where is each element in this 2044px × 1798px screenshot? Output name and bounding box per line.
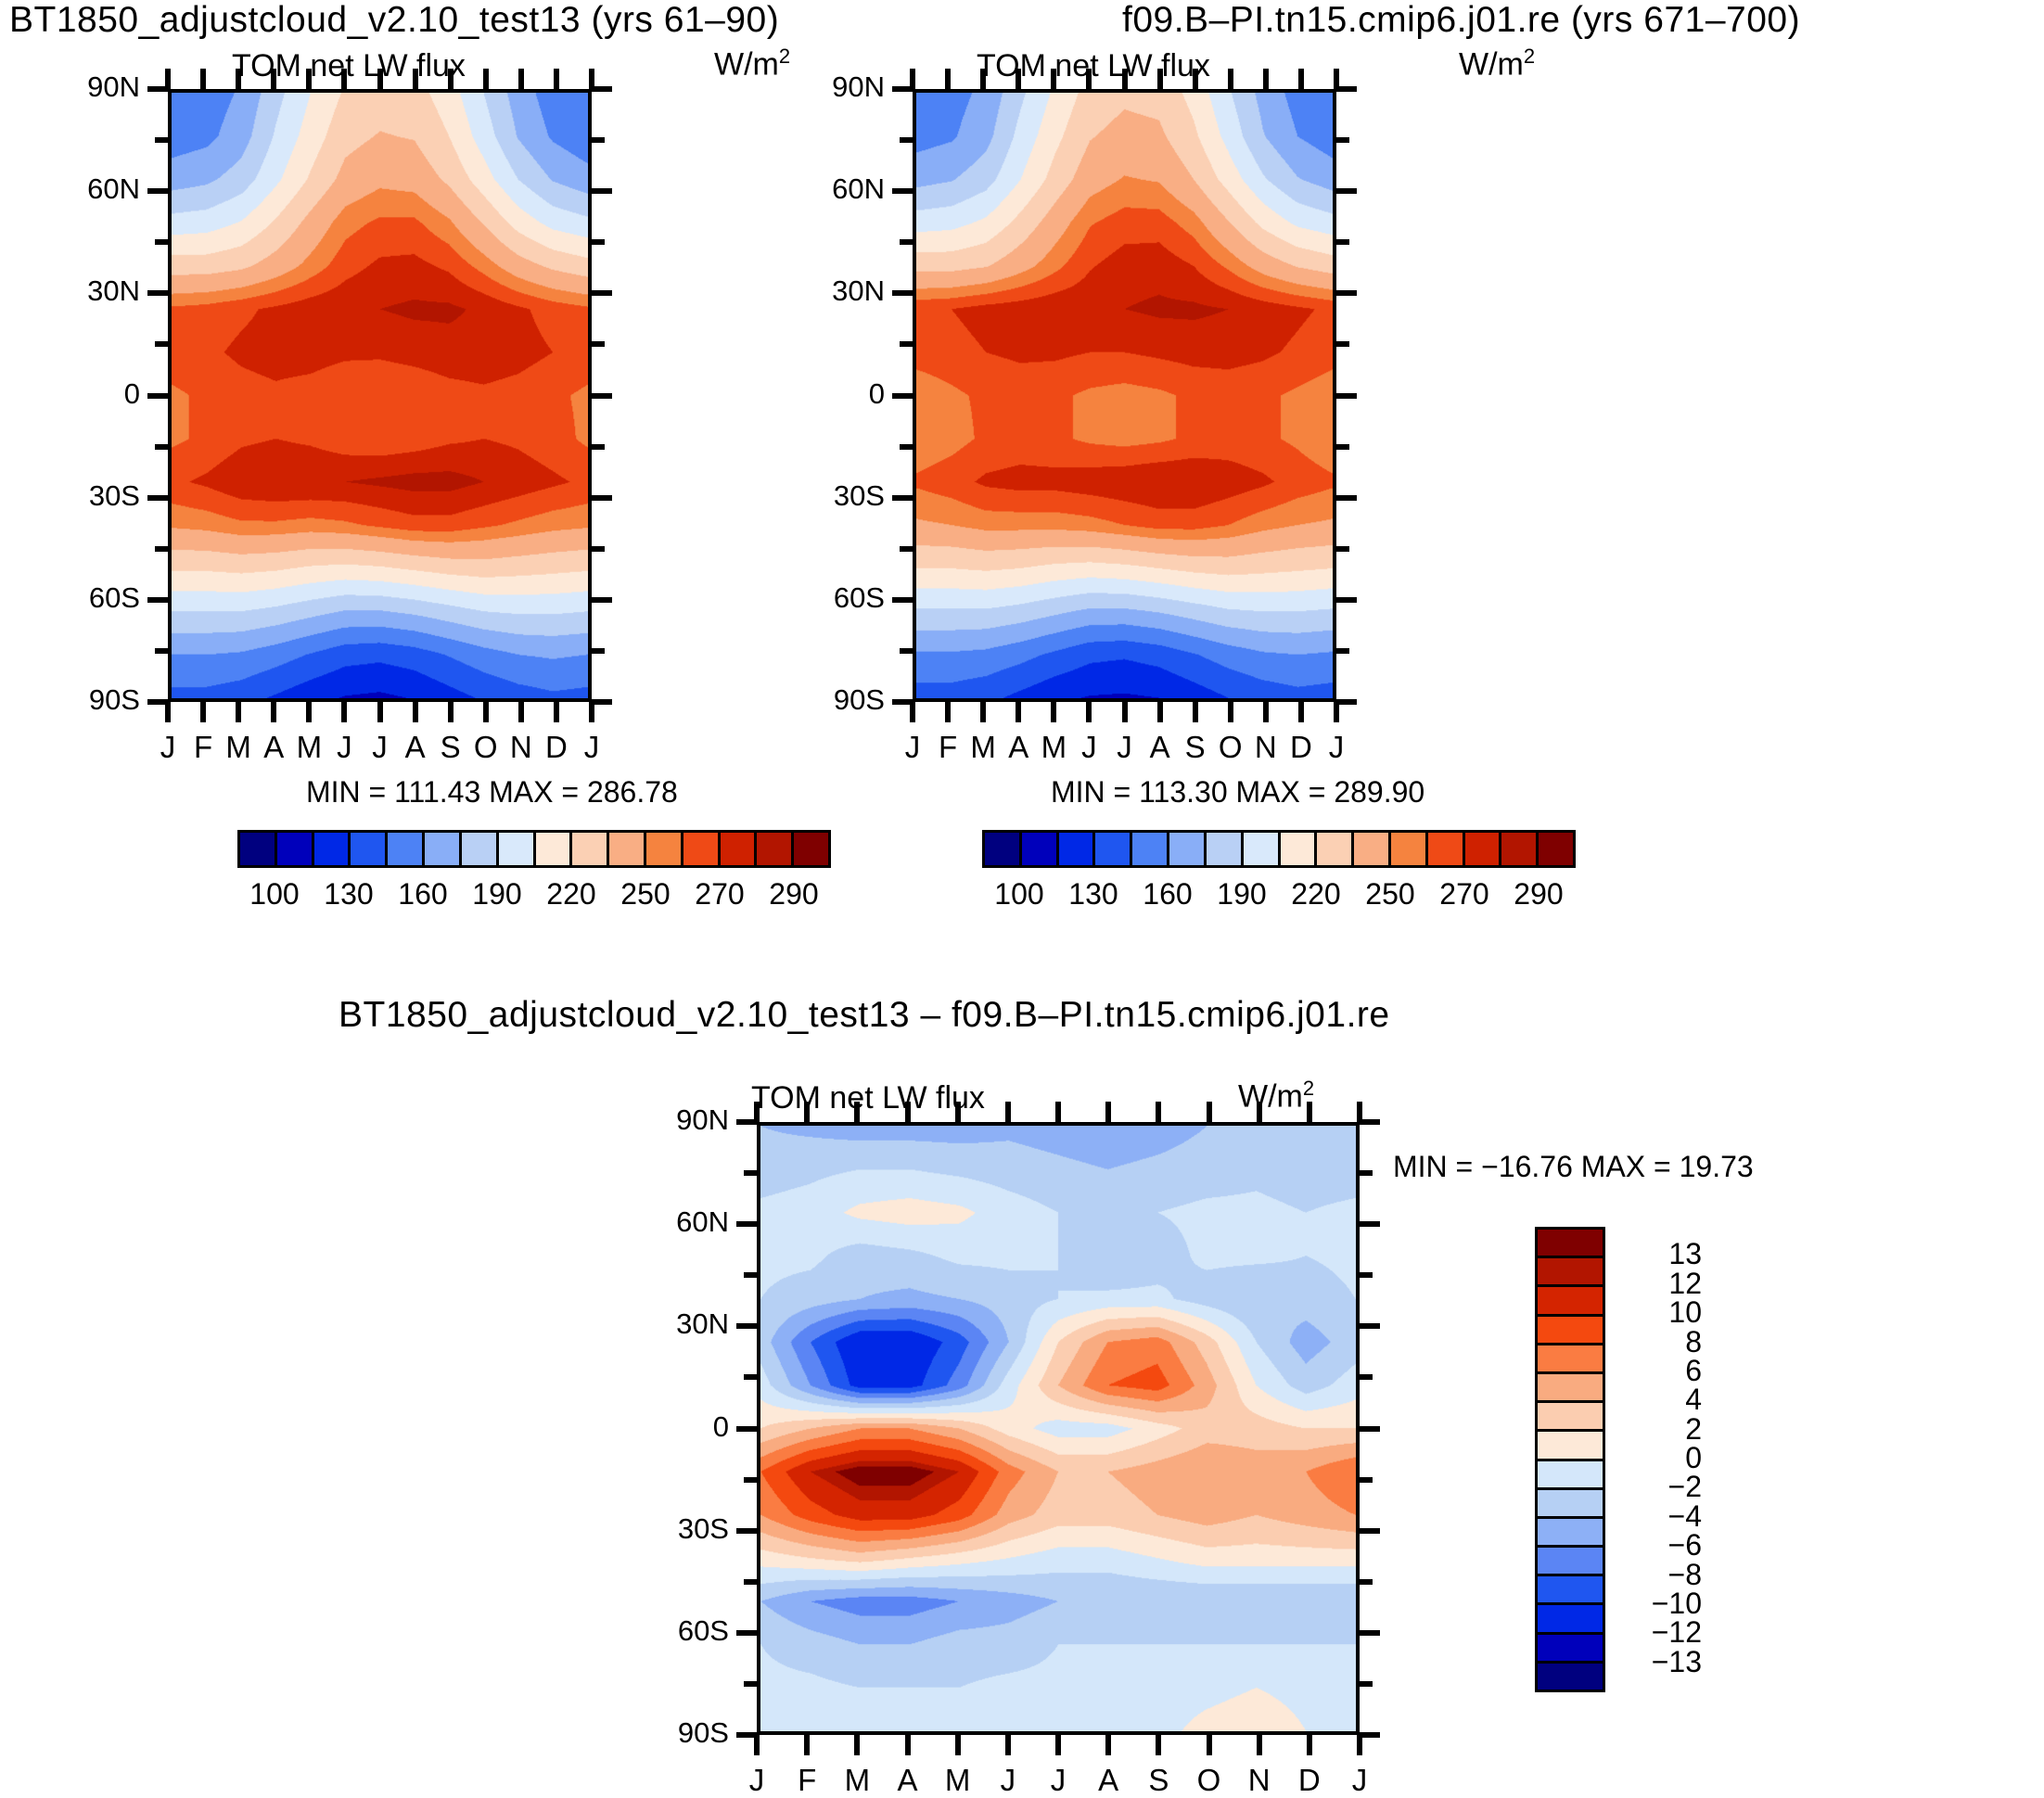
right-panel-heatmap bbox=[916, 93, 1333, 698]
colorbar-tick-label: 290 bbox=[1514, 877, 1563, 912]
x-axis-tick-top bbox=[518, 69, 524, 91]
x-axis-month-label: J bbox=[990, 1763, 1027, 1798]
colorbar-cell bbox=[277, 833, 314, 865]
x-axis-tick-top bbox=[1193, 69, 1198, 91]
y-axis-minor-tick-right bbox=[1358, 1681, 1373, 1687]
x-axis-tick bbox=[910, 700, 915, 722]
x-axis-month-label: J bbox=[1341, 1763, 1378, 1798]
y-axis-tick-right bbox=[590, 393, 612, 399]
y-axis-tick bbox=[736, 1426, 759, 1432]
x-axis-month-label: N bbox=[1247, 730, 1284, 765]
x-axis-month-label: F bbox=[788, 1763, 825, 1798]
y-axis-tick bbox=[892, 597, 914, 603]
x-axis-month-label: A bbox=[1090, 1763, 1127, 1798]
y-axis-tick-right bbox=[1335, 290, 1357, 296]
y-axis-label: 60N bbox=[599, 1205, 729, 1239]
x-axis-tick-top bbox=[1122, 69, 1128, 91]
x-axis-tick bbox=[1055, 1733, 1061, 1755]
y-axis-label: 60S bbox=[599, 1614, 729, 1648]
y-axis-minor-tick-right bbox=[590, 341, 605, 347]
y-axis-minor-tick-right bbox=[1358, 1170, 1373, 1176]
colorbar-cell bbox=[1428, 833, 1465, 865]
colorbar-cell bbox=[240, 833, 277, 865]
colorbar-tick-label: 130 bbox=[1068, 877, 1118, 912]
y-axis-minor-tick-right bbox=[1335, 546, 1349, 552]
right-units-text: W/m bbox=[1459, 46, 1524, 82]
colorbar-cell bbox=[1538, 1258, 1603, 1287]
x-axis-tick-top bbox=[236, 69, 241, 91]
x-axis-month-label: O bbox=[1191, 1763, 1228, 1798]
x-axis-month-label: S bbox=[432, 730, 469, 765]
left-panel-colorbar[interactable] bbox=[237, 830, 831, 868]
x-axis-tick bbox=[200, 700, 206, 722]
x-axis-tick-top bbox=[1055, 1102, 1061, 1124]
x-axis-month-label: J bbox=[1040, 1763, 1077, 1798]
x-axis-tick-top bbox=[483, 69, 489, 91]
x-axis-month-label: A bbox=[1142, 730, 1179, 765]
colorbar-cell bbox=[1244, 833, 1281, 865]
y-axis-minor-tick bbox=[744, 1477, 759, 1483]
x-axis-tick-top bbox=[980, 69, 986, 91]
x-axis-tick bbox=[1257, 1733, 1262, 1755]
colorbar-tick-label: 100 bbox=[249, 877, 299, 912]
colorbar-tick-label: 100 bbox=[994, 877, 1043, 912]
x-axis-tick bbox=[1228, 700, 1233, 722]
difference-panel-variable-label: TOM net LW flux bbox=[751, 1080, 985, 1116]
colorbar-cell bbox=[1132, 833, 1169, 865]
x-axis-month-label: J bbox=[362, 730, 399, 765]
colorbar-cell bbox=[1538, 1317, 1603, 1345]
colorbar-tick-label: 130 bbox=[324, 877, 373, 912]
x-axis-tick-top bbox=[413, 69, 418, 91]
x-axis-tick bbox=[945, 700, 951, 722]
colorbar-cell bbox=[1465, 833, 1502, 865]
colorbar-cell bbox=[1095, 833, 1132, 865]
y-axis-minor-tick-right bbox=[1335, 648, 1349, 654]
x-axis-month-label: J bbox=[1106, 730, 1143, 765]
y-axis-tick-right bbox=[590, 495, 612, 501]
left-panel-minmax: MIN = 111.43 MAX = 286.78 bbox=[306, 775, 678, 810]
x-axis-tick bbox=[1334, 700, 1339, 722]
x-axis-month-label: D bbox=[538, 730, 575, 765]
y-axis-minor-tick bbox=[900, 648, 914, 654]
y-axis-tick bbox=[147, 188, 170, 194]
y-axis-tick bbox=[736, 1630, 759, 1636]
colorbar-cell bbox=[1169, 833, 1207, 865]
colorbar-cell bbox=[1538, 1605, 1603, 1634]
x-axis-tick-top bbox=[1357, 1102, 1362, 1124]
right-panel-variable-label: TOM net LW flux bbox=[977, 48, 1210, 84]
y-axis-label: 90S bbox=[599, 1716, 729, 1750]
y-axis-tick-right bbox=[590, 290, 612, 296]
y-axis-label: 60S bbox=[10, 581, 140, 615]
colorbar-tick-label: 160 bbox=[398, 877, 447, 912]
y-axis-minor-tick-right bbox=[590, 546, 605, 552]
colorbar-cell bbox=[1501, 833, 1539, 865]
y-axis-minor-tick-right bbox=[1358, 1272, 1373, 1278]
y-axis-tick bbox=[892, 495, 914, 501]
y-axis-tick bbox=[147, 290, 170, 296]
colorbar-cell bbox=[985, 833, 1022, 865]
x-axis-month-label: J bbox=[573, 730, 610, 765]
right-panel-colorbar[interactable] bbox=[982, 830, 1576, 868]
y-axis-tick-right bbox=[1335, 393, 1357, 399]
x-axis-tick-top bbox=[1051, 69, 1056, 91]
y-axis-minor-tick bbox=[744, 1272, 759, 1278]
x-axis-tick-top bbox=[1257, 1102, 1262, 1124]
colorbar-cell bbox=[1281, 833, 1318, 865]
y-axis-minor-tick bbox=[900, 341, 914, 347]
left-panel-variable-label: TOM net LW flux bbox=[232, 48, 466, 84]
x-axis-tick bbox=[955, 1733, 961, 1755]
difference-panel-plot[interactable] bbox=[757, 1122, 1360, 1735]
colorbar-cell bbox=[1059, 833, 1096, 865]
y-axis-label: 0 bbox=[755, 377, 885, 411]
left-panel-title: BT1850_adjustcloud_v2.10_test13 (yrs 61‒… bbox=[9, 0, 779, 41]
colorbar-tick-label: −13 bbox=[1618, 1645, 1702, 1679]
y-axis-minor-tick-right bbox=[1358, 1374, 1373, 1380]
x-axis-tick bbox=[1016, 700, 1021, 722]
colorbar-tick-label: 250 bbox=[1365, 877, 1414, 912]
x-axis-tick bbox=[754, 1733, 760, 1755]
y-axis-minor-tick bbox=[900, 137, 914, 143]
x-axis-tick bbox=[804, 1733, 810, 1755]
x-axis-tick-top bbox=[754, 1102, 760, 1124]
y-axis-label: 60N bbox=[755, 172, 885, 206]
y-axis-minor-tick bbox=[155, 341, 170, 347]
colorbar-tick-label: 270 bbox=[1439, 877, 1488, 912]
x-axis-month-label: N bbox=[1241, 1763, 1278, 1798]
y-axis-tick bbox=[892, 290, 914, 296]
y-axis-label: 90S bbox=[10, 683, 140, 717]
x-axis-tick-top bbox=[854, 1102, 860, 1124]
y-axis-minor-tick-right bbox=[1335, 444, 1349, 450]
y-axis-minor-tick bbox=[155, 546, 170, 552]
left-panel-heatmap bbox=[172, 93, 588, 698]
x-axis-tick bbox=[854, 1733, 860, 1755]
right-panel-minmax: MIN = 113.30 MAX = 289.90 bbox=[1051, 775, 1424, 810]
x-axis-month-label: J bbox=[1070, 730, 1107, 765]
y-axis-label: 30N bbox=[755, 274, 885, 308]
y-axis-minor-tick bbox=[155, 648, 170, 654]
y-axis-tick-right bbox=[1358, 1323, 1380, 1329]
colorbar-cell bbox=[572, 833, 609, 865]
x-axis-tick-top bbox=[1298, 69, 1304, 91]
y-axis-tick bbox=[892, 188, 914, 194]
x-axis-tick-top bbox=[955, 1102, 961, 1124]
y-axis-minor-tick bbox=[900, 546, 914, 552]
x-axis-tick bbox=[1207, 1733, 1212, 1755]
x-axis-tick bbox=[518, 700, 524, 722]
x-axis-tick-top bbox=[905, 1102, 911, 1124]
x-axis-tick bbox=[589, 700, 594, 722]
x-axis-month-label: J bbox=[1318, 730, 1355, 765]
x-axis-month-label: M bbox=[939, 1763, 977, 1798]
colorbar-cell bbox=[1022, 833, 1059, 865]
x-axis-tick bbox=[236, 700, 241, 722]
x-axis-month-label: O bbox=[467, 730, 505, 765]
right-units-exponent: 2 bbox=[1524, 45, 1535, 68]
right-panel-title: f09.B‒PI.tn15.cmip6.j01.re (yrs 671‒700) bbox=[1122, 0, 1800, 41]
x-axis-tick-top bbox=[200, 69, 206, 91]
y-axis-label: 30N bbox=[10, 274, 140, 308]
x-axis-tick bbox=[1193, 700, 1198, 722]
y-axis-label: 0 bbox=[10, 377, 140, 411]
x-axis-tick-top bbox=[1207, 1102, 1212, 1124]
x-axis-tick-top bbox=[341, 69, 347, 91]
x-axis-tick bbox=[1156, 1733, 1161, 1755]
x-axis-tick-top bbox=[1016, 69, 1021, 91]
x-axis-tick-top bbox=[271, 69, 276, 91]
colorbar-cell bbox=[1391, 833, 1428, 865]
y-axis-label: 60S bbox=[755, 581, 885, 615]
y-axis-label: 30N bbox=[599, 1307, 729, 1341]
y-axis-label: 90S bbox=[755, 683, 885, 717]
y-axis-minor-tick bbox=[744, 1374, 759, 1380]
colorbar-cell bbox=[1538, 1576, 1603, 1605]
colorbar-tick-label: 160 bbox=[1143, 877, 1192, 912]
difference-panel-units-label: W/m2 bbox=[1238, 1077, 1314, 1115]
x-axis-tick bbox=[448, 700, 454, 722]
y-axis-label: 0 bbox=[599, 1410, 729, 1444]
y-axis-tick-right bbox=[1335, 597, 1357, 603]
x-axis-tick-top bbox=[554, 69, 559, 91]
y-axis-minor-tick bbox=[744, 1170, 759, 1176]
x-axis-tick bbox=[1307, 1733, 1312, 1755]
x-axis-tick-top bbox=[1156, 1102, 1161, 1124]
colorbar-cell bbox=[1538, 1345, 1603, 1374]
y-axis-minor-tick-right bbox=[1358, 1579, 1373, 1585]
x-axis-month-label: M bbox=[290, 730, 327, 765]
y-axis-tick-right bbox=[1335, 495, 1357, 501]
x-axis-month-label: A bbox=[255, 730, 292, 765]
x-axis-tick bbox=[306, 700, 312, 722]
x-axis-tick-top bbox=[377, 69, 383, 91]
y-axis-minor-tick-right bbox=[590, 648, 605, 654]
y-axis-tick-right bbox=[1358, 1528, 1380, 1534]
y-axis-minor-tick bbox=[744, 1579, 759, 1585]
y-axis-tick bbox=[736, 1528, 759, 1534]
right-panel-plot[interactable] bbox=[913, 89, 1336, 702]
colorbar-cell bbox=[425, 833, 462, 865]
difference-panel-minmax: MIN = −16.76 MAX = 19.73 bbox=[1393, 1150, 1754, 1184]
x-axis-tick-top bbox=[1307, 1102, 1312, 1124]
y-axis-label: 30S bbox=[10, 479, 140, 513]
colorbar-cell bbox=[462, 833, 499, 865]
x-axis-tick-top bbox=[1105, 1102, 1111, 1124]
colorbar-cell bbox=[1539, 833, 1573, 865]
y-axis-minor-tick bbox=[900, 444, 914, 450]
x-axis-month-label: A bbox=[1000, 730, 1037, 765]
difference-panel-title: BT1850_adjustcloud_v2.10_test13 ‒ f09.B‒… bbox=[339, 995, 1390, 1036]
y-axis-label: 90N bbox=[599, 1103, 729, 1137]
right-panel-units-label: W/m2 bbox=[1459, 45, 1535, 83]
difference-panel-heatmap bbox=[760, 1126, 1356, 1731]
x-axis-month-label: F bbox=[929, 730, 966, 765]
colorbar-cell bbox=[1207, 833, 1244, 865]
y-axis-label: 60N bbox=[10, 172, 140, 206]
x-axis-month-label: M bbox=[220, 730, 257, 765]
y-axis-label: 90N bbox=[755, 70, 885, 104]
y-axis-tick bbox=[147, 597, 170, 603]
x-axis-tick-top bbox=[448, 69, 454, 91]
y-axis-minor-tick-right bbox=[1358, 1477, 1373, 1483]
colorbar-cell bbox=[1538, 1635, 1603, 1664]
x-axis-month-label: J bbox=[149, 730, 186, 765]
colorbar-cell bbox=[721, 833, 758, 865]
x-axis-month-label: N bbox=[503, 730, 540, 765]
x-axis-month-label: J bbox=[894, 730, 931, 765]
x-axis-tick bbox=[905, 1733, 911, 1755]
x-axis-tick bbox=[271, 700, 276, 722]
colorbar-tick-label: 250 bbox=[620, 877, 670, 912]
left-panel-plot[interactable] bbox=[168, 89, 592, 702]
x-axis-tick-top bbox=[1334, 69, 1339, 91]
x-axis-tick bbox=[1122, 700, 1128, 722]
x-axis-month-label: O bbox=[1212, 730, 1249, 765]
colorbar-cell bbox=[1538, 1432, 1603, 1460]
colorbar-cell bbox=[1538, 1519, 1603, 1548]
y-axis-tick bbox=[892, 393, 914, 399]
colorbar-cell bbox=[536, 833, 573, 865]
colorbar-cell bbox=[388, 833, 425, 865]
x-axis-tick bbox=[1086, 700, 1092, 722]
x-axis-tick-top bbox=[1086, 69, 1092, 91]
colorbar-tick-label: 270 bbox=[695, 877, 744, 912]
colorbar-cell bbox=[794, 833, 828, 865]
y-axis-minor-tick bbox=[744, 1681, 759, 1687]
x-axis-month-label: M bbox=[1035, 730, 1072, 765]
colorbar-cell bbox=[351, 833, 388, 865]
difference-colorbar-labels: 13121086420−2−4−6−8−10−12−13 bbox=[1618, 1227, 1785, 1692]
colorbar-cell bbox=[683, 833, 721, 865]
diff-units-text: W/m bbox=[1238, 1078, 1303, 1114]
x-axis-month-label: D bbox=[1291, 1763, 1328, 1798]
y-axis-minor-tick bbox=[155, 137, 170, 143]
y-axis-minor-tick-right bbox=[590, 137, 605, 143]
colorbar-cell bbox=[1538, 1664, 1603, 1690]
y-axis-minor-tick bbox=[155, 239, 170, 245]
y-axis-tick bbox=[736, 1221, 759, 1227]
diff-units-exponent: 2 bbox=[1303, 1077, 1314, 1100]
y-axis-tick-right bbox=[1358, 1426, 1380, 1432]
x-axis-month-label: M bbox=[965, 730, 1002, 765]
x-axis-tick-top bbox=[1263, 69, 1269, 91]
x-axis-month-label: S bbox=[1140, 1763, 1177, 1798]
x-axis-tick bbox=[341, 700, 347, 722]
x-axis-month-label: M bbox=[838, 1763, 875, 1798]
x-axis-tick bbox=[554, 700, 559, 722]
y-axis-tick bbox=[147, 393, 170, 399]
x-axis-tick-top bbox=[306, 69, 312, 91]
colorbar-cell bbox=[1538, 1461, 1603, 1490]
y-axis-label: 30S bbox=[755, 479, 885, 513]
colorbar-tick-label: 220 bbox=[1291, 877, 1340, 912]
colorbar-cell bbox=[314, 833, 351, 865]
y-axis-tick-right bbox=[1358, 1630, 1380, 1636]
y-axis-tick-right bbox=[590, 597, 612, 603]
x-axis-month-label: J bbox=[738, 1763, 775, 1798]
x-axis-tick-top bbox=[945, 69, 951, 91]
x-axis-month-label: J bbox=[326, 730, 363, 765]
y-axis-tick bbox=[147, 495, 170, 501]
colorbar-cell bbox=[499, 833, 536, 865]
y-axis-minor-tick-right bbox=[590, 239, 605, 245]
x-axis-month-label: S bbox=[1177, 730, 1214, 765]
x-axis-month-label: F bbox=[185, 730, 222, 765]
y-axis-tick-right bbox=[1335, 188, 1357, 194]
x-axis-month-label: A bbox=[397, 730, 434, 765]
colorbar-cell bbox=[1538, 1490, 1603, 1519]
colorbar-cell bbox=[1538, 1403, 1603, 1432]
colorbar-cell bbox=[1538, 1374, 1603, 1403]
y-axis-minor-tick-right bbox=[1335, 239, 1349, 245]
colorbar-cell bbox=[1354, 833, 1391, 865]
x-axis-tick bbox=[1105, 1733, 1111, 1755]
colorbar-cell bbox=[1538, 1287, 1603, 1316]
y-axis-tick-right bbox=[1358, 1221, 1380, 1227]
y-axis-minor-tick-right bbox=[590, 444, 605, 450]
colorbar-tick-label: 190 bbox=[1217, 877, 1266, 912]
x-axis-tick-top bbox=[910, 69, 915, 91]
x-axis-tick bbox=[1298, 700, 1304, 722]
x-axis-tick bbox=[980, 700, 986, 722]
colorbar-tick-label: 190 bbox=[472, 877, 521, 912]
colorbar-tick-label: 290 bbox=[769, 877, 818, 912]
colorbar-cell bbox=[646, 833, 683, 865]
x-axis-tick bbox=[165, 700, 171, 722]
x-axis-tick-top bbox=[165, 69, 171, 91]
y-axis-label: 30S bbox=[599, 1512, 729, 1546]
colorbar-tick-label: 220 bbox=[546, 877, 595, 912]
colorbar-cell bbox=[757, 833, 794, 865]
x-axis-tick bbox=[1051, 700, 1056, 722]
colorbar-cell bbox=[609, 833, 646, 865]
y-axis-minor-tick-right bbox=[1335, 137, 1349, 143]
x-axis-tick-top bbox=[1228, 69, 1233, 91]
y-axis-minor-tick bbox=[900, 239, 914, 245]
x-axis-month-label: D bbox=[1283, 730, 1320, 765]
x-axis-tick-top bbox=[589, 69, 594, 91]
x-axis-tick bbox=[1357, 1733, 1362, 1755]
x-axis-tick bbox=[377, 700, 383, 722]
x-axis-tick bbox=[1005, 1733, 1011, 1755]
colorbar-cell bbox=[1538, 1548, 1603, 1576]
x-axis-tick bbox=[1157, 700, 1163, 722]
x-axis-tick-top bbox=[1005, 1102, 1011, 1124]
y-axis-minor-tick bbox=[155, 444, 170, 450]
x-axis-month-label: A bbox=[889, 1763, 926, 1798]
x-axis-tick bbox=[1263, 700, 1269, 722]
x-axis-tick-top bbox=[804, 1102, 810, 1124]
y-axis-label: 90N bbox=[10, 70, 140, 104]
difference-colorbar[interactable] bbox=[1535, 1227, 1605, 1692]
y-axis-minor-tick-right bbox=[1335, 341, 1349, 347]
y-axis-tick bbox=[736, 1323, 759, 1329]
left-units-exponent: 2 bbox=[779, 45, 790, 68]
x-axis-tick bbox=[413, 700, 418, 722]
x-axis-tick bbox=[483, 700, 489, 722]
y-axis-tick-right bbox=[590, 188, 612, 194]
colorbar-cell bbox=[1317, 833, 1354, 865]
colorbar-cell bbox=[1538, 1230, 1603, 1258]
x-axis-tick-top bbox=[1157, 69, 1163, 91]
